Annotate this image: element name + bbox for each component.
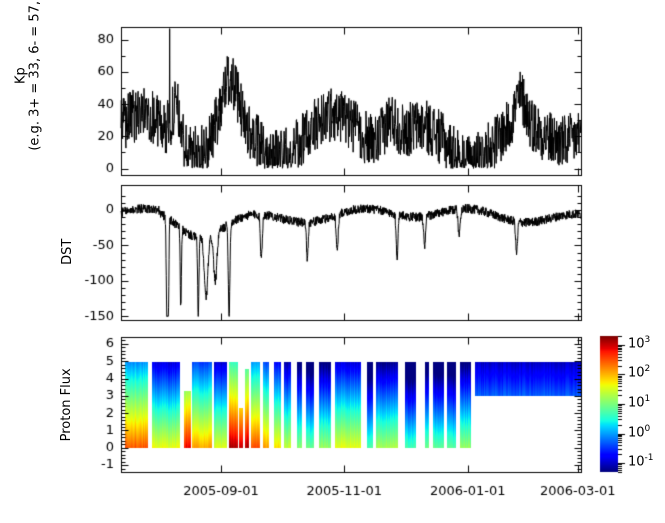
proton-flux-axis-label: Proton Flux: [60, 340, 74, 470]
colorbar-tick-label: 100: [628, 424, 650, 440]
colorbar-tick-label: 10-1: [628, 453, 654, 469]
colorbar-tick-label: 101: [628, 394, 650, 410]
plot-canvas: [0, 0, 665, 523]
colorbar-tick-label: 103: [628, 335, 650, 351]
kp-axis-label: Kp (e.g. 3+ = 33, 6- = 57, 4 = 40, etc.): [14, 1, 41, 151]
kp-axis-label-line2: (e.g. 3+ = 33, 6- = 57, 4 = 40, etc.): [28, 1, 42, 151]
kp-axis-label-line1: Kp: [14, 1, 28, 151]
dst-axis-label: DST: [61, 212, 75, 292]
colorbar-tick-label: 102: [628, 364, 650, 380]
